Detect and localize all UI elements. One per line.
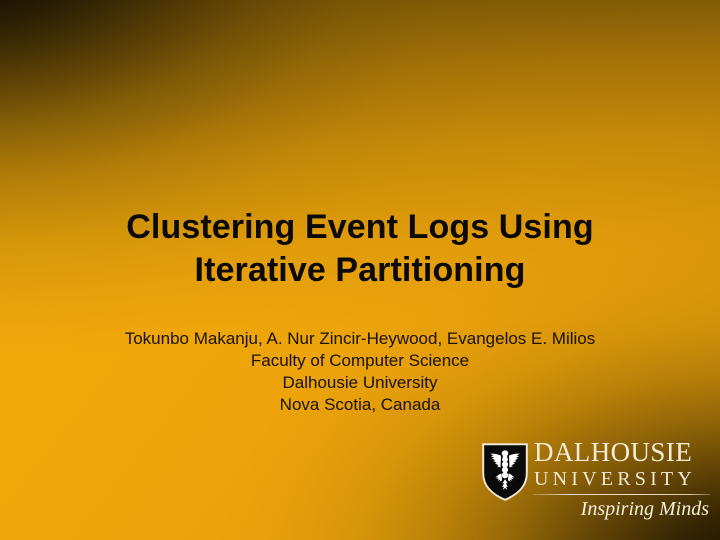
author-names: Tokunbo Makanju, A. Nur Zincir-Heywood, … [20,328,700,350]
slide-authors-affiliation: Tokunbo Makanju, A. Nur Zincir-Heywood, … [0,328,720,416]
logo-name-university: UNIVERSITY [534,468,710,491]
affiliation-faculty: Faculty of Computer Science [20,350,700,372]
presentation-title-slide: Clustering Event Logs Using Iterative Pa… [0,0,720,540]
slide-title-line-1: Clustering Event Logs Using [40,206,680,249]
affiliation-university: Dalhousie University [20,372,700,394]
dalhousie-shield-eagle-icon [482,443,528,501]
logo-tagline: Inspiring Minds [534,497,710,522]
logo-name-dalhousie: DALHOUSIE [534,438,710,467]
logo-divider-rule [533,494,710,495]
affiliation-location: Nova Scotia, Canada [20,394,700,416]
dalhousie-university-logo: DALHOUSIE UNIVERSITY Inspiring Minds [478,438,710,528]
slide-title: Clustering Event Logs Using Iterative Pa… [0,206,720,292]
slide-title-line-2: Iterative Partitioning [40,249,680,292]
dalhousie-wordmark: DALHOUSIE UNIVERSITY Inspiring Minds [534,438,710,522]
